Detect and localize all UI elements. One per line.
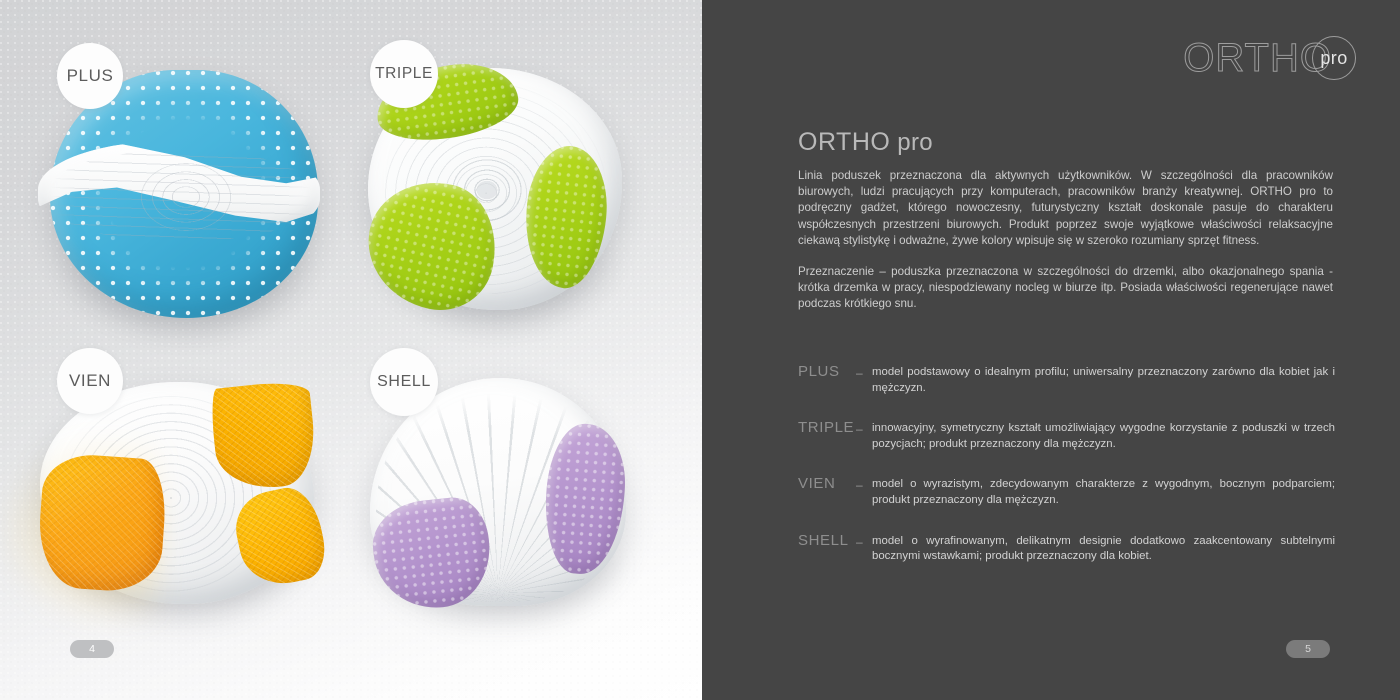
ortho-pro-logo: ORTHO pro	[1183, 34, 1356, 82]
model-description: model podstawowy o idealnym profilu; uni…	[872, 363, 1335, 396]
product-badge-vien: VIEN	[57, 348, 123, 414]
logo-pro-text: pro	[1320, 48, 1347, 69]
model-name: VIEN	[798, 475, 856, 492]
page-title-main: ORTHO	[798, 128, 890, 156]
model-dash: –	[856, 532, 872, 549]
model-description: model o wyrafinowanym, delikatnym design…	[872, 532, 1335, 565]
model-name: TRIPLE	[798, 419, 856, 436]
list-item: VIEN – model o wyrazistym, zdecydowanym …	[798, 475, 1335, 508]
product-photo-vien	[32, 378, 322, 610]
list-item: SHELL – model o wyrafinowanym, delikatny…	[798, 532, 1335, 565]
product-badge-label: SHELL	[377, 373, 431, 391]
page-title-sub: pro	[890, 129, 933, 156]
logo-wordmark: ORTHO	[1183, 36, 1332, 81]
page-number-right: 5	[1286, 640, 1330, 658]
list-item: PLUS – model podstawowy o idealnym profi…	[798, 363, 1335, 396]
concentric-rings	[134, 158, 238, 236]
right-page: ORTHO pro ORTHO pro Linia poduszek przez…	[702, 0, 1400, 700]
page-number-left: 4	[70, 640, 114, 658]
orange-glow	[0, 436, 158, 626]
model-description: model o wyrazistym, zdecydowanym charakt…	[872, 475, 1335, 508]
left-page: PLUS TRIPLE VIEN SHELL 4	[0, 0, 702, 700]
page-number-value: 5	[1305, 643, 1311, 655]
product-badge-label: TRIPLE	[375, 65, 433, 83]
model-dash: –	[856, 475, 872, 492]
product-badge-shell: SHELL	[370, 348, 438, 416]
intro-paragraph-2: Przeznaczenie – poduszka przeznaczona w …	[798, 264, 1333, 313]
page-number-value: 4	[89, 643, 95, 655]
page-title: ORTHO pro	[798, 128, 933, 157]
model-description: innowacyjny, symetryczny kształt umożliw…	[872, 419, 1335, 452]
intro-paragraph-1: Linia poduszek przeznaczona dla aktywnyc…	[798, 168, 1333, 249]
list-item: TRIPLE – innowacyjny, symetryczny kształ…	[798, 419, 1335, 452]
model-dash: –	[856, 419, 872, 436]
brochure-spread: PLUS TRIPLE VIEN SHELL 4 ORTHO pro ORTHO…	[0, 0, 1400, 700]
product-badge-label: VIEN	[69, 371, 111, 391]
model-name: PLUS	[798, 363, 856, 380]
pillow-vien	[32, 378, 322, 610]
model-name: SHELL	[798, 532, 856, 549]
model-dash: –	[856, 363, 872, 380]
product-badge-triple: TRIPLE	[370, 40, 438, 108]
product-badge-plus: PLUS	[57, 43, 123, 109]
model-description-list: PLUS – model podstawowy o idealnym profi…	[798, 363, 1335, 588]
product-badge-label: PLUS	[67, 66, 114, 86]
logo-circle-badge: pro	[1312, 36, 1356, 80]
intro-copy: Linia poduszek przeznaczona dla aktywnyc…	[798, 168, 1333, 313]
